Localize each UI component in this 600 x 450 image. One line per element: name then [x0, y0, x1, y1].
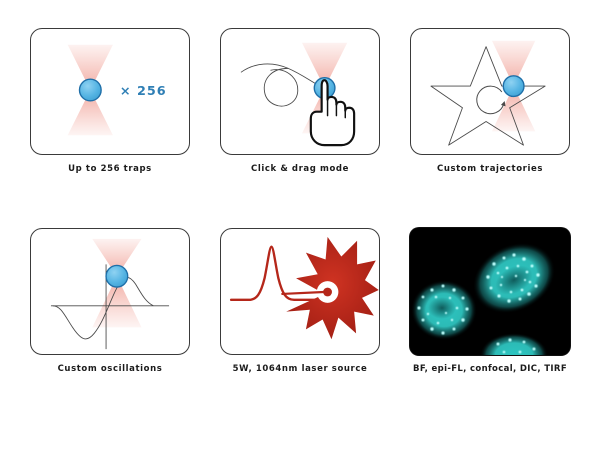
- trapped-bead-icon: [503, 76, 524, 97]
- feature-card-laser-source[interactable]: 5W, 1064nm laser source: [208, 228, 392, 410]
- fluorescence-microscopy-photo: [410, 228, 570, 355]
- caption-custom-trajectories: Custom trajectories: [437, 164, 543, 174]
- caption-laser-source: 5W, 1064nm laser source: [233, 364, 368, 374]
- cell-nucleus-lower-left: [411, 280, 477, 340]
- figure-imaging-modes: [410, 228, 570, 355]
- drag-loop-icon: [264, 68, 298, 106]
- figure-laser-source: [220, 228, 380, 355]
- figure-up-to-256-traps: × 256: [30, 28, 190, 155]
- caption-imaging-modes: BF, epi-FL, confocal, DIC, TIRF: [413, 364, 567, 374]
- feature-card-custom-trajectories[interactable]: Custom trajectories: [398, 28, 582, 210]
- trapped-bead-icon: [106, 265, 128, 287]
- feature-grid: × 256 Up to 256 traps: [0, 0, 600, 450]
- caption-up-to-256-traps: Up to 256 traps: [68, 164, 152, 174]
- trapped-bead-icon: [79, 79, 101, 101]
- figure-custom-trajectories: [410, 28, 570, 155]
- laser-burst-icon: [282, 237, 378, 339]
- figure-custom-oscillations: [30, 228, 190, 355]
- caption-click-and-drag-mode: Click & drag mode: [251, 164, 349, 174]
- drag-path-icon: [241, 64, 324, 88]
- figure-click-and-drag-mode: [220, 28, 380, 155]
- caption-custom-oscillations: Custom oscillations: [58, 364, 163, 374]
- feature-card-custom-oscillations[interactable]: Custom oscillations: [18, 228, 202, 410]
- feature-card-click-and-drag-mode[interactable]: Click & drag mode: [208, 28, 392, 210]
- multiplier-label: × 256: [120, 84, 167, 99]
- circular-arrow-icon: [477, 86, 504, 114]
- feature-card-up-to-256-traps[interactable]: × 256 Up to 256 traps: [18, 28, 202, 210]
- feature-card-imaging-modes[interactable]: BF, epi-FL, confocal, DIC, TIRF: [398, 228, 582, 410]
